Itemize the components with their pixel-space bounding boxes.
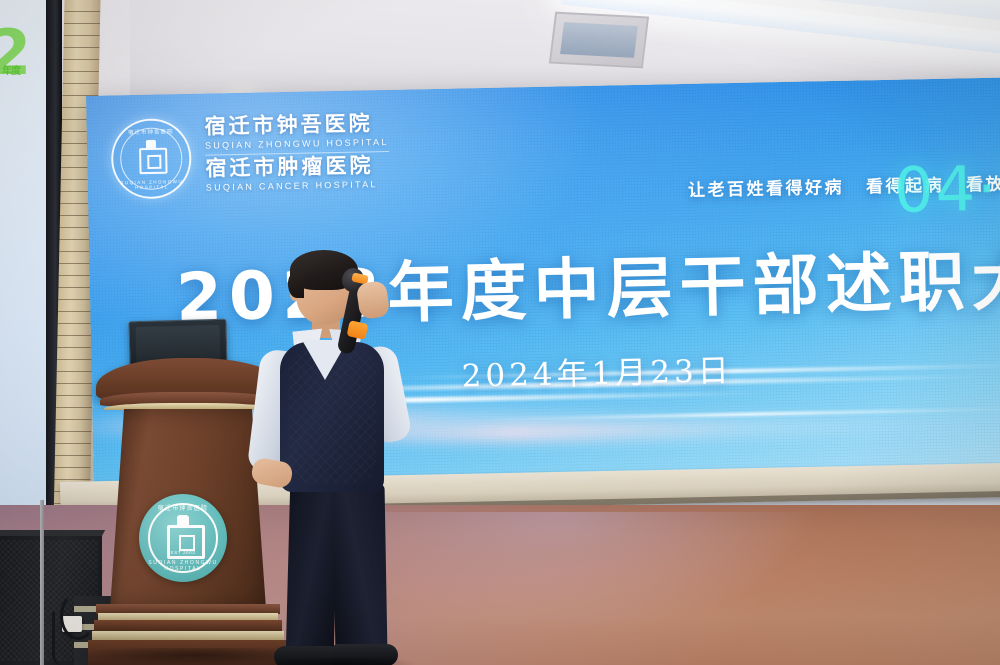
hospital-logo-lockup: 宿迁市钟吾医院 SUQIAN ZHONGWU HOSPITAL 宿迁市钟吾医院 … (110, 112, 389, 201)
ceiling-air-vent-icon (549, 12, 649, 69)
hospital-name-block: 宿迁市钟吾医院 SUQIAN ZHONGWU HOSPITAL 宿迁市肿瘤医院 … (204, 112, 389, 199)
hospital-emblem-icon: 宿迁市钟吾医院 SUQIAN ZHONGWU HOSPITAL (110, 117, 192, 199)
screen-big-number-overlay: 04·12 (893, 150, 1000, 227)
conference-hall-photo: 2 年度 宿迁市钟吾医院 SUQIAN ZHONGWU HOSPITAL (0, 0, 1000, 665)
mic-stand-pole (40, 500, 44, 665)
podium-emblem-est-text: EST 2003 (139, 550, 227, 555)
hospital-name-en-2: SUQIAN CANCER HOSPITAL (206, 177, 390, 196)
speaker-leg-right (333, 484, 388, 657)
speaker-leg-left (286, 483, 338, 654)
speaker-person (240, 246, 420, 665)
emblem-vessel-glyph (135, 139, 168, 176)
podium-emblem-arc-bottom-text: SUQIAN ZHONGWU HOSPITAL (139, 560, 227, 572)
screen-date-line: 2024年1月23日 (461, 345, 733, 395)
speaker-hand-holding-mic (356, 280, 391, 320)
podium-emblem-arc-top-text: 宿迁市钟吾医院 (139, 503, 227, 512)
emblem-arc-top-text: 宿迁市钟吾医院 (113, 126, 189, 136)
slogan-part-1: 让老百姓看得好病 (688, 178, 844, 200)
hospital-name-en-1: SUQIAN ZHONGWU HOSPITAL (205, 135, 389, 155)
side-display-screen: 2 年度 (0, 0, 48, 560)
emblem-arc-bottom-text: SUQIAN ZHONGWU HOSPITAL (114, 178, 190, 190)
podium-hospital-emblem-icon: 宿迁市钟吾医院 EST 2003 SUQIAN ZHONGWU HOSPITAL (139, 494, 227, 582)
speaker-floor-shadow (264, 658, 414, 665)
side-display-subtext: 年度 (2, 62, 20, 77)
power-cable (52, 612, 69, 665)
